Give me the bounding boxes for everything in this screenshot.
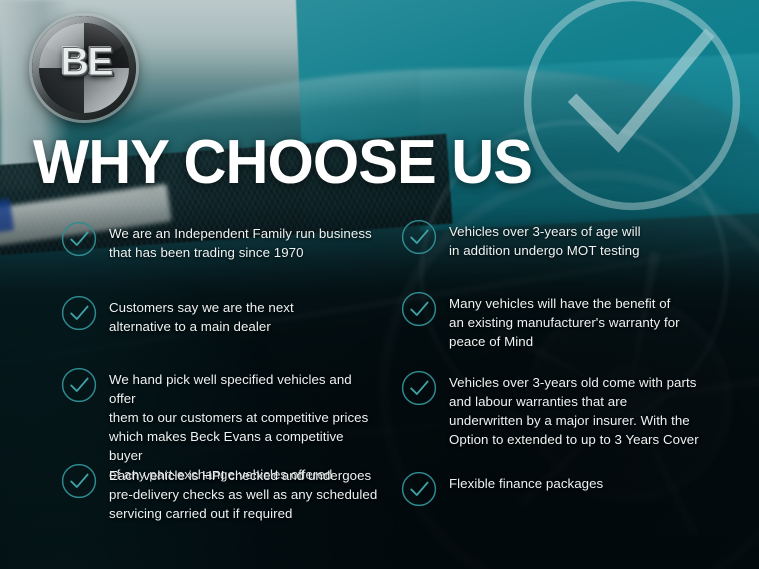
check-circle-icon [400, 290, 438, 328]
benefit-text: Customers say we are the next alternativ… [109, 298, 294, 336]
benefit-text: Each vehicle is HPI checked and undergoe… [109, 466, 377, 523]
logo-roundel: BE [39, 23, 129, 113]
benefit-item: Vehicles over 3-years old come with part… [400, 373, 699, 449]
page-title: WHY CHOOSE US [33, 132, 532, 194]
check-circle-icon [60, 462, 98, 500]
benefit-item: Vehicles over 3-years of age will in add… [400, 222, 641, 260]
check-circle-icon [60, 366, 98, 404]
benefit-text: Vehicles over 3-years old come with part… [449, 373, 699, 449]
benefit-item: Customers say we are the next alternativ… [60, 298, 294, 336]
benefit-item: Each vehicle is HPI checked and undergoe… [60, 466, 377, 523]
benefit-text: We are an Independent Family run busines… [109, 224, 372, 262]
benefit-item: We are an Independent Family run busines… [60, 224, 372, 262]
benefit-text: Vehicles over 3-years of age will in add… [449, 222, 641, 260]
logo-initials: BE [60, 40, 112, 85]
check-circle-icon [400, 218, 438, 256]
brand-logo[interactable]: BE [32, 16, 136, 120]
benefit-item: Many vehicles will have the benefit of a… [400, 294, 680, 351]
benefits-columns: We are an Independent Family run busines… [0, 218, 759, 563]
check-circle-icon [60, 220, 98, 258]
why-choose-us-banner: BE WHY CHOOSE US We are an Independent F… [0, 0, 759, 569]
benefit-item: Flexible finance packages [400, 474, 603, 508]
check-circle-icon [400, 369, 438, 407]
benefit-text: Many vehicles will have the benefit of a… [449, 294, 680, 351]
check-circle-icon [400, 470, 438, 508]
benefit-text: Flexible finance packages [449, 474, 603, 493]
check-circle-icon [60, 294, 98, 332]
